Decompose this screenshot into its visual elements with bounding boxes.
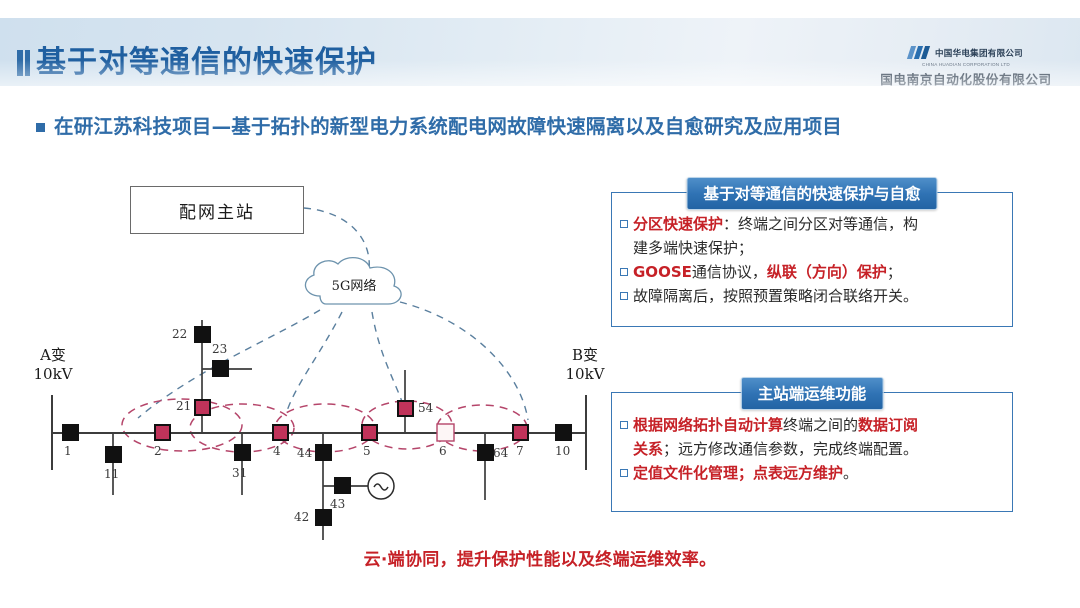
bullet-item: 故障隔离后，按照预置策略闭合联络开关。 [620, 285, 1003, 308]
switch-label-4: 4 [273, 444, 281, 458]
info-box-2-banner: 主站端运维功能 [741, 377, 884, 410]
bullet-text: 根据网络拓扑自动计算终端之间的数据订阅 [633, 414, 918, 437]
zone-mark-7 [514, 426, 527, 439]
slide-page: 基于对等通信的快速保护 中国华电集团有限公司 CHINA HUADIAN COR… [0, 0, 1080, 608]
comm-link-cloud-to-node-54 [372, 312, 406, 414]
huadian-mark-icon [909, 46, 931, 59]
comm-link-group [138, 208, 528, 420]
switch-1 [62, 424, 79, 441]
switch-label-31: 31 [232, 466, 247, 480]
switch-23 [212, 360, 229, 377]
slide-header: 基于对等通信的快速保护 中国华电集团有限公司 CHINA HUADIAN COR… [0, 18, 1080, 86]
switch-42 [315, 509, 332, 526]
bullet-square-icon [620, 292, 628, 300]
zone-mark-21 [196, 401, 209, 414]
switch-22 [194, 326, 211, 343]
switch-43 [334, 477, 351, 494]
switch-label-5: 5 [363, 444, 371, 458]
diagram-svg [20, 170, 620, 540]
switch-label-43: 43 [330, 497, 345, 511]
info-box-1-banner: 基于对等通信的快速保护与自愈 [686, 177, 937, 210]
zone-mark-5 [363, 426, 376, 439]
bullet-item: 根据网络拓扑自动计算终端之间的数据订阅 [620, 414, 1003, 437]
bullet-indent-spacer [620, 244, 628, 252]
switch-44 [315, 444, 332, 461]
distribution-network-diagram: 配网主站 5G网络 A变10kV B变10kV 1 11 2 21 22 23 … [20, 170, 620, 540]
switch-label-10: 10 [555, 444, 570, 458]
bullet-square-icon [620, 469, 628, 477]
master-station-box: 配网主站 [130, 186, 304, 234]
switch-label-2: 2 [154, 444, 162, 458]
switch-10 [555, 424, 572, 441]
company-logo: 中国华电集团有限公司 CHINA HUADIAN CORPORATION LTD… [862, 44, 1070, 86]
switch-label-42: 42 [294, 510, 309, 524]
info-box-1-body: 分区快速保护：终端之间分区对等通信，构 建多端快速保护； GOOSE通信协议，纵… [612, 193, 1012, 315]
bullet-text: 定值文件化管理；点表远方维护。 [633, 462, 858, 485]
generator-icon [368, 473, 394, 499]
zone-mark-4 [274, 426, 287, 439]
switch-label-21: 21 [176, 399, 191, 413]
switch-label-7: 7 [516, 444, 524, 458]
logo-company-cn: 国电南京自动化股份有限公司 [862, 69, 1070, 86]
bullet-item-cont: 建多端快速保护； [620, 237, 1003, 260]
substation-b-label: B变10kV [560, 346, 610, 384]
bullet-item: 定值文件化管理；点表远方维护。 [620, 462, 1003, 485]
bullet-text: 分区快速保护：终端之间分区对等通信，构 [633, 213, 918, 236]
switch-label-11: 11 [104, 467, 119, 481]
switch-label-64: 64 [493, 446, 508, 460]
comm-link-cloud-to-node-4 [286, 312, 342, 414]
logo-top-row: 中国华电集团有限公司 [862, 44, 1070, 61]
switch-label-1: 1 [64, 444, 72, 458]
bullet-text: 关系；远方修改通信参数，完成终端配置。 [633, 438, 918, 461]
cloud-label: 5G网络 [312, 275, 396, 294]
zone-mark-2 [156, 426, 169, 439]
switch-group [62, 326, 572, 526]
switch-64 [477, 444, 494, 461]
zone-mark-54 [399, 402, 412, 415]
title-accent-bar [17, 50, 23, 76]
switch-label-23: 23 [212, 342, 227, 356]
info-box-fast-protection: 基于对等通信的快速保护与自愈 分区快速保护：终端之间分区对等通信，构 建多端快速… [611, 192, 1013, 327]
switch-label-6: 6 [439, 444, 447, 458]
info-box-master-station-ops: 主站端运维功能 根据网络拓扑自动计算终端之间的数据订阅 关系；远方修改通信参数，… [611, 392, 1013, 512]
bullet-square-icon [620, 220, 628, 228]
page-title: 基于对等通信的快速保护 [36, 45, 377, 81]
bullet-text: GOOSE通信协议，纵联（方向）保护； [633, 261, 902, 284]
bullet-text: 建多端快速保护； [633, 237, 753, 260]
switch-label-54: 54 [418, 401, 433, 415]
bullet-item-cont: 关系；远方修改通信参数，完成终端配置。 [620, 438, 1003, 461]
switch-label-44: 44 [297, 446, 312, 460]
bullet-item: GOOSE通信协议，纵联（方向）保护； [620, 261, 1003, 284]
logo-corp-en: CHINA HUADIAN CORPORATION LTD [862, 62, 1070, 67]
bottom-caption: 云·端协同，提升保护性能以及终端运维效率。 [0, 545, 1080, 570]
bullet-square-icon [620, 268, 628, 276]
subtitle-row: 在研江苏科技项目—基于拓扑的新型电力系统配电网故障快速隔离以及自愈研究及应用项目 [36, 114, 842, 140]
subtitle-text: 在研江苏科技项目—基于拓扑的新型电力系统配电网故障快速隔离以及自愈研究及应用项目 [54, 114, 842, 140]
bullet-text: 故障隔离后，按照预置策略闭合联络开关。 [633, 285, 918, 308]
bullet-square-icon [620, 421, 628, 429]
bullet-item: 分区快速保护：终端之间分区对等通信，构 [620, 213, 1003, 236]
switch-11 [105, 446, 122, 463]
switch-31 [234, 444, 251, 461]
switch-6-open-tie [437, 424, 454, 441]
switch-label-22: 22 [172, 327, 187, 341]
substation-a-label: A变10kV [28, 346, 78, 384]
logo-corp-cn: 中国华电集团有限公司 [935, 47, 1023, 59]
bullet-indent-spacer [620, 445, 628, 453]
subtitle-bullet-icon [36, 123, 45, 132]
